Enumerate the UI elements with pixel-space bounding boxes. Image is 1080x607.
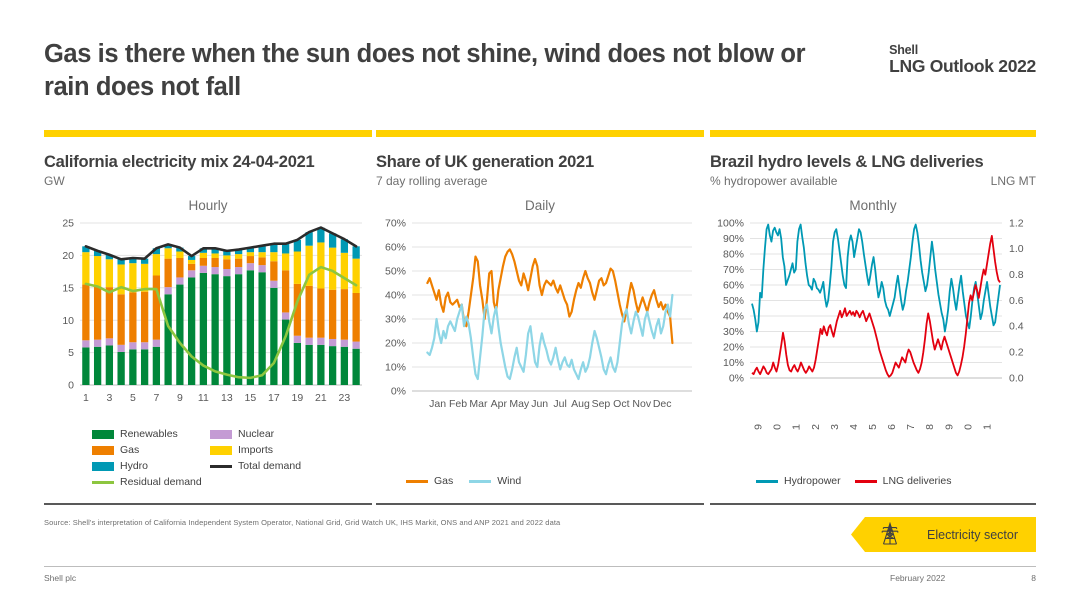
svg-text:Jul: Jul [553, 398, 566, 410]
panel-california-electricity-mix: California electricity mix 24-04-2021 GW… [44, 130, 372, 505]
legend-item: Gas [92, 444, 210, 456]
legend-label: Renewables [120, 428, 178, 440]
panel-subtitle: GW [44, 174, 65, 188]
svg-text:5: 5 [130, 392, 136, 404]
svg-text:Mar: Mar [469, 398, 488, 410]
svg-text:2013: 2013 [829, 424, 841, 430]
svg-text:0: 0 [68, 380, 74, 392]
svg-text:25: 25 [62, 218, 74, 230]
svg-text:0%: 0% [729, 372, 744, 384]
sector-badge: Electricity sector [851, 517, 1036, 552]
chart-caption: Monthly [710, 198, 1036, 213]
svg-text:7: 7 [153, 392, 159, 404]
svg-text:10%: 10% [385, 362, 406, 374]
svg-text:2009: 2009 [753, 424, 765, 430]
legend-swatch [92, 481, 114, 484]
svg-text:2015: 2015 [867, 424, 879, 430]
svg-text:Jan: Jan [429, 398, 446, 410]
legend-swatch [469, 480, 491, 483]
panel-bottom-rule [44, 503, 372, 505]
chart-legend-1: RenewablesNuclearGasImportsHydroTotal de… [92, 428, 372, 488]
svg-text:80%: 80% [723, 248, 744, 260]
svg-text:Dec: Dec [653, 398, 672, 410]
panel-title: Brazil hydro levels & LNG deliveries [710, 153, 1036, 172]
svg-text:30%: 30% [723, 326, 744, 338]
svg-text:10%: 10% [723, 357, 744, 369]
svg-text:0.2: 0.2 [1009, 347, 1024, 359]
svg-text:Feb: Feb [449, 398, 467, 410]
legend-label: Total demand [238, 460, 301, 472]
legend-label: LNG deliveries [883, 475, 952, 487]
footer-company: Shell plc [44, 573, 76, 583]
svg-text:11: 11 [198, 392, 209, 404]
slide-header: Gas is there when the sun does not shine… [44, 38, 1036, 116]
brand-lockup: Shell LNG Outlook 2022 [889, 44, 1036, 75]
svg-text:20%: 20% [385, 338, 406, 350]
svg-text:2017: 2017 [905, 424, 917, 430]
svg-text:13: 13 [221, 392, 233, 404]
svg-text:20%: 20% [723, 341, 744, 353]
legend-swatch [92, 430, 114, 439]
brand-outlook-label: LNG Outlook 2022 [889, 57, 1036, 75]
panel-bottom-rule [710, 503, 1036, 505]
legend-item: Total demand [210, 460, 350, 472]
chart-plot-area-3: 0%10%20%30%40%50%60%70%80%90%100%0.00.20… [710, 215, 1036, 430]
chart-legend-2: GasWind [406, 475, 734, 487]
svg-text:3: 3 [106, 392, 112, 404]
svg-text:2021: 2021 [981, 424, 993, 430]
legend-label: Gas [434, 475, 453, 487]
panel-accent-bar [376, 130, 704, 137]
svg-text:20: 20 [62, 250, 74, 262]
svg-text:40%: 40% [723, 310, 744, 322]
legend-label: Nuclear [238, 428, 274, 440]
svg-text:70%: 70% [723, 264, 744, 276]
svg-text:30%: 30% [385, 314, 406, 326]
legend-swatch [756, 480, 778, 483]
svg-text:2012: 2012 [810, 424, 822, 430]
svg-text:1: 1 [83, 392, 89, 404]
legend-swatch [406, 480, 428, 483]
chart-plot-area-1: 05101520251357911131517192123 [44, 215, 372, 415]
svg-text:15: 15 [62, 282, 74, 294]
svg-text:0.0: 0.0 [1009, 372, 1024, 384]
legend-swatch [210, 446, 232, 455]
svg-text:2011: 2011 [791, 424, 803, 430]
source-note: Source: Shell's interpretation of Califo… [44, 518, 560, 527]
svg-text:2010: 2010 [772, 424, 784, 430]
panel-bottom-rule [376, 503, 704, 505]
svg-text:10: 10 [62, 315, 74, 327]
svg-text:40%: 40% [385, 290, 406, 302]
legend-item: Hydropower [756, 475, 841, 487]
panel-title: California electricity mix 24-04-2021 [44, 153, 372, 172]
svg-text:19: 19 [292, 392, 304, 404]
legend-swatch [210, 430, 232, 439]
svg-text:90%: 90% [723, 233, 744, 245]
legend-item: Wind [469, 475, 521, 487]
svg-text:60%: 60% [723, 279, 744, 291]
svg-text:5: 5 [68, 347, 74, 359]
svg-text:Aug: Aug [571, 398, 590, 410]
svg-text:2014: 2014 [848, 424, 860, 430]
panel-brazil-hydro-lng: Brazil hydro levels & LNG deliveries % h… [710, 130, 1036, 505]
svg-text:21: 21 [315, 392, 327, 404]
svg-text:0.6: 0.6 [1009, 295, 1024, 307]
sector-badge-label: Electricity sector [927, 528, 1018, 542]
panel-accent-bar [44, 130, 372, 137]
panel-title: Share of UK generation 2021 [376, 153, 704, 172]
chart-legend-3: HydropowerLNG deliveries [756, 475, 1080, 487]
svg-text:70%: 70% [385, 218, 406, 230]
svg-text:1.0: 1.0 [1009, 243, 1024, 255]
line-chart-uk: 0%10%20%30%40%50%60%70%JanFebMarAprMayJu… [376, 215, 704, 425]
chart-caption: Daily [376, 198, 704, 213]
legend-label: Hydro [120, 460, 148, 472]
legend-item: Renewables [92, 428, 210, 440]
footer-date: February 2022 [890, 573, 945, 583]
legend-label: Residual demand [120, 476, 202, 488]
svg-text:0%: 0% [391, 386, 406, 398]
stacked-bar-chart: 05101520251357911131517192123 [44, 215, 372, 415]
legend-swatch [92, 446, 114, 455]
legend-item: Gas [406, 475, 453, 487]
svg-text:2018: 2018 [924, 424, 936, 430]
svg-text:0.4: 0.4 [1009, 321, 1024, 333]
svg-text:15: 15 [245, 392, 257, 404]
panel-accent-bar [710, 130, 1036, 137]
svg-text:2020: 2020 [962, 424, 974, 430]
panel-subtitle-right: LNG MT [991, 174, 1036, 188]
legend-item: Residual demand [92, 476, 210, 488]
legend-label: Wind [497, 475, 521, 487]
svg-text:17: 17 [268, 392, 280, 404]
line-chart-brazil: 0%10%20%30%40%50%60%70%80%90%100%0.00.20… [710, 215, 1036, 430]
legend-swatch [210, 465, 232, 468]
panel-subtitle: 7 day rolling average [376, 174, 487, 188]
chart-caption: Hourly [44, 198, 372, 213]
svg-text:Nov: Nov [632, 398, 651, 410]
pylon-icon [877, 522, 903, 548]
svg-text:60%: 60% [385, 242, 406, 254]
legend-item: Nuclear [210, 428, 350, 440]
svg-text:Jun: Jun [531, 398, 548, 410]
legend-item: Hydro [92, 460, 210, 472]
footer-page-number: 8 [1031, 573, 1036, 583]
page-title: Gas is there when the sun does not shine… [44, 38, 844, 104]
svg-text:2019: 2019 [943, 424, 955, 430]
svg-text:50%: 50% [723, 295, 744, 307]
svg-text:9: 9 [177, 392, 183, 404]
legend-label: Gas [120, 444, 139, 456]
svg-text:May: May [509, 398, 530, 410]
svg-text:1.2: 1.2 [1009, 217, 1024, 229]
legend-label: Hydropower [784, 475, 841, 487]
legend-item: LNG deliveries [855, 475, 952, 487]
svg-text:2016: 2016 [886, 424, 898, 430]
slide-footer: Shell plc February 2022 8 [44, 573, 1036, 589]
panel-uk-generation-share: Share of UK generation 2021 7 day rollin… [376, 130, 704, 505]
panel-subtitle: % hydropower available [710, 174, 837, 188]
svg-text:Sep: Sep [592, 398, 611, 410]
svg-text:Apr: Apr [491, 398, 508, 410]
svg-text:23: 23 [339, 392, 351, 404]
legend-item: Imports [210, 444, 350, 456]
legend-swatch [92, 462, 114, 471]
svg-text:50%: 50% [385, 266, 406, 278]
svg-text:100%: 100% [717, 217, 744, 229]
footer-rule [44, 566, 1036, 567]
legend-label: Imports [238, 444, 273, 456]
svg-text:0.8: 0.8 [1009, 269, 1024, 281]
svg-text:Oct: Oct [613, 398, 629, 410]
brand-shell-label: Shell [889, 44, 1036, 57]
legend-swatch [855, 480, 877, 483]
chart-plot-area-2: 0%10%20%30%40%50%60%70%JanFebMarAprMayJu… [376, 215, 704, 425]
